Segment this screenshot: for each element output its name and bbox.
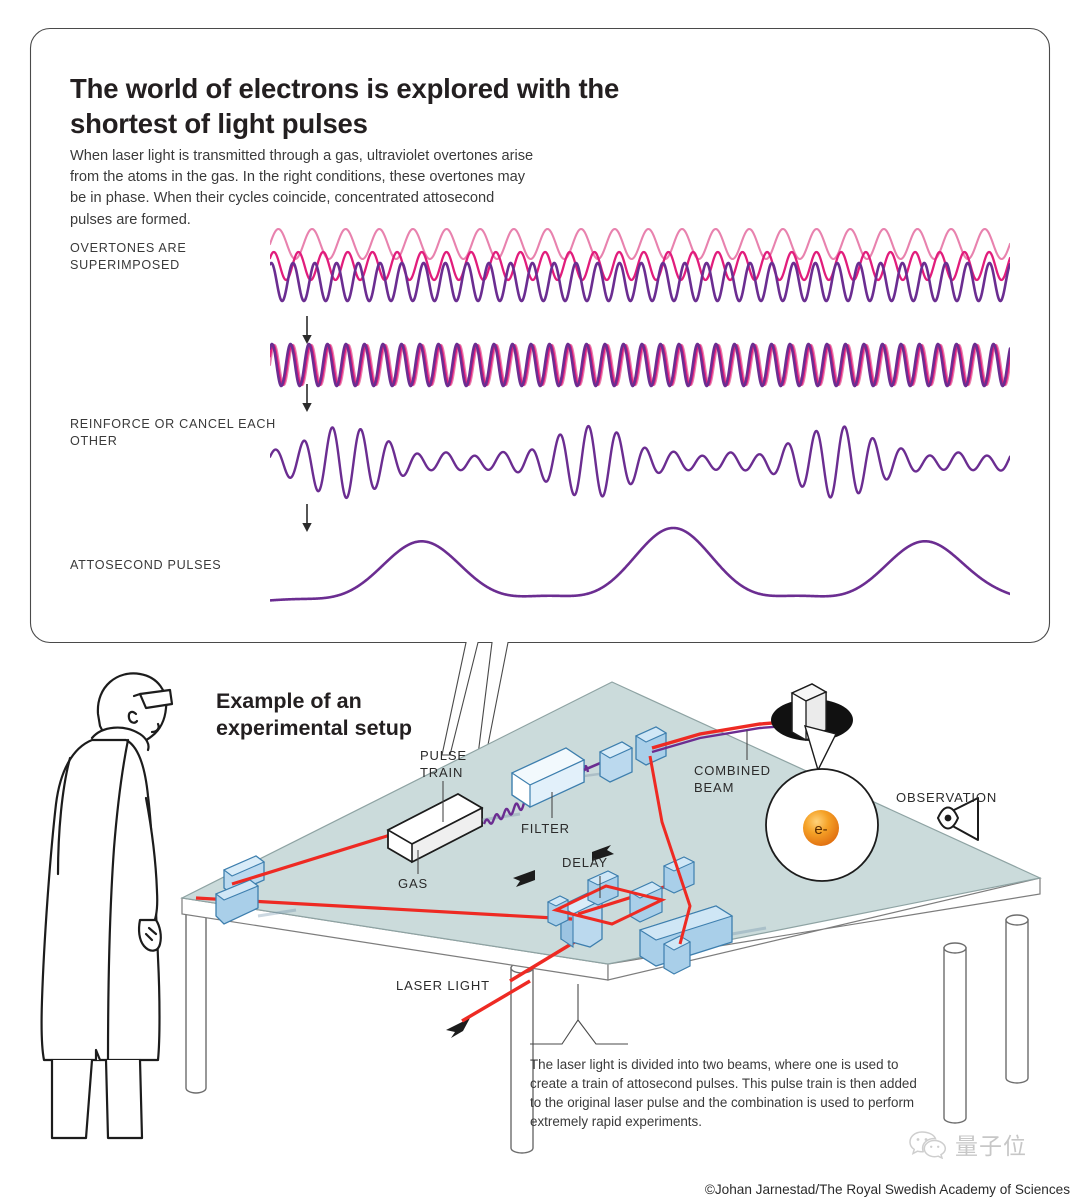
label-delay: DELAY xyxy=(562,855,642,872)
scientist-figure xyxy=(42,673,172,1138)
label-gas: GAS xyxy=(398,876,458,893)
caption-leader-bracket xyxy=(530,1020,628,1044)
arrow-laser-entry-icon xyxy=(446,1018,470,1038)
wave-interference-sum xyxy=(270,416,1010,504)
down-arrow-icon-2 xyxy=(298,383,316,415)
label-filter: FILTER xyxy=(521,821,611,838)
infographic-page: The world of electrons is explored with … xyxy=(0,0,1080,1204)
callout-pointer-electron xyxy=(805,726,836,770)
setup-heading: Example of an experimental setup xyxy=(216,688,426,741)
label-laser-light: LASER LIGHT xyxy=(396,978,516,995)
page-title: The world of electrons is explored with … xyxy=(70,72,630,141)
wave-overtones-in-phase xyxy=(270,340,1010,390)
optic-pickoff-mirror xyxy=(664,936,690,974)
experimental-setup-diagram: e- xyxy=(0,648,1080,1204)
watermark: 量子位 xyxy=(908,1122,1068,1166)
setup-caption: The laser light is divided into two beam… xyxy=(530,1055,930,1132)
callout-card: The world of electrons is explored with … xyxy=(30,28,1050,648)
label-combined-beam: COMBINED BEAM xyxy=(694,763,804,796)
electron-label: e- xyxy=(814,821,827,838)
wechat-logo-icon xyxy=(908,1129,948,1159)
label-observation: OBSERVATION xyxy=(896,790,1026,807)
credit-line: ©Johan Jarnestad/The Royal Swedish Acade… xyxy=(480,1182,1070,1197)
wave-overtones-superimposed xyxy=(270,226,1010,308)
stage-label-reinforce: REINFORCE OR CANCEL EACH OTHER xyxy=(70,416,300,450)
watermark-text: 量子位 xyxy=(955,1127,1027,1161)
stage-label-overtones: OVERTONES ARE SUPERIMPOSED xyxy=(70,240,300,274)
wave-attosecond-pulses xyxy=(270,510,1010,610)
stage-label-attosecond: ATTOSECOND PULSES xyxy=(70,557,300,574)
intro-paragraph: When laser light is transmitted through … xyxy=(70,146,540,232)
label-pulse-train: PULSE TRAIN xyxy=(420,748,500,781)
